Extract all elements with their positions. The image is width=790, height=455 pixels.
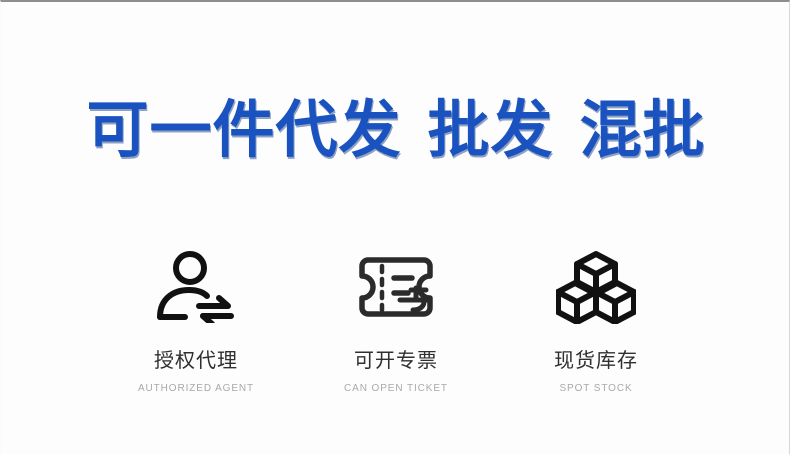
invoice-ticket-icon (355, 248, 437, 326)
feature-label-cn: 授权代理 (154, 348, 238, 372)
feature-label-en: AUTHORIZED AGENT (138, 382, 254, 395)
feature-item-authorized-agent: 授权代理 AUTHORIZED AGENT (96, 248, 296, 395)
feature-list: 授权代理 AUTHORIZED AGENT (1, 248, 790, 395)
headline-segment-3: 混批 (580, 90, 706, 170)
headline-container: 可一件代发批发混批 (1, 90, 790, 170)
feature-label-cn: 现货库存 (554, 348, 638, 372)
feature-item-spot-stock: 现货库存 SPOT STOCK (496, 248, 696, 395)
person-exchange-icon (155, 248, 237, 326)
feature-label-cn: 可开专票 (354, 348, 438, 372)
headline-segment-1: 可一件代发 (86, 90, 401, 170)
feature-item-can-open-ticket: 可开专票 CAN OPEN TICKET (296, 248, 496, 395)
headline-segment-2: 批发 (427, 90, 553, 170)
feature-label-en: CAN OPEN TICKET (344, 382, 448, 395)
stacked-boxes-icon (555, 248, 637, 326)
feature-label-en: SPOT STOCK (559, 382, 632, 395)
page-title: 可一件代发批发混批 (86, 90, 705, 170)
promo-banner: 可一件代发批发混批 授权代理 AUTHORIZED AGENT (0, 0, 790, 455)
